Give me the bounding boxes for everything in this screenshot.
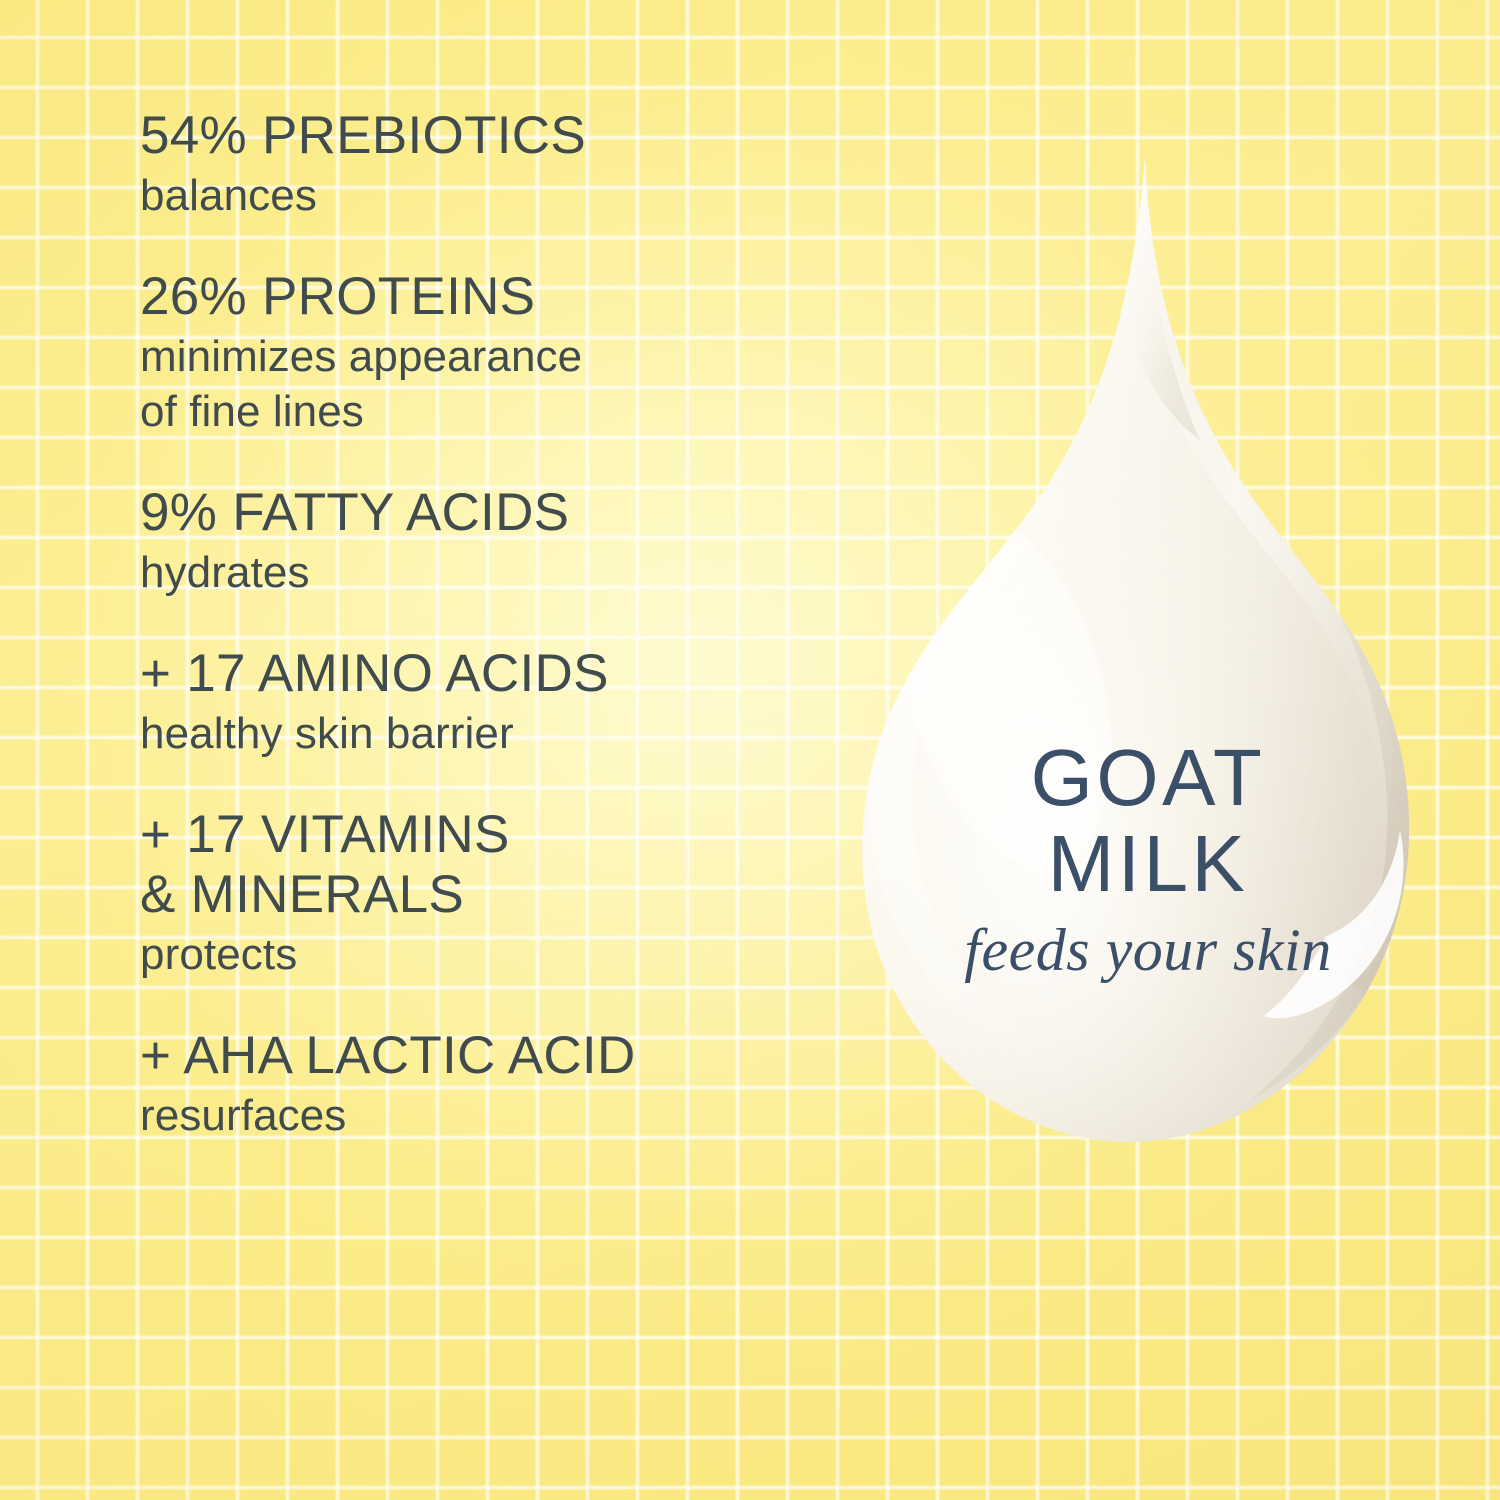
benefit-title: 9% FATTY ACIDS [140,483,840,543]
benefit-title: + 17 AMINO ACIDS [140,644,840,704]
benefit-item-proteins: 26% PROTEINS minimizes appearance of fin… [140,267,840,439]
benefit-description: balances [140,168,840,223]
benefit-description: minimizes appearance of fine lines [140,329,840,439]
benefit-title: + AHA LACTIC ACID [140,1026,840,1086]
benefit-title: 54% PREBIOTICS [140,106,840,166]
benefit-description: resurfaces [140,1088,840,1143]
benefits-list: 54% PREBIOTICS balances 26% PROTEINS min… [140,106,840,1143]
benefit-item-vitamins-minerals: + 17 VITAMINS & MINERALS protects [140,805,840,982]
benefit-item-aha-lactic-acid: + AHA LACTIC ACID resurfaces [140,1026,840,1143]
benefit-title: 26% PROTEINS [140,267,840,327]
benefit-description: protects [140,927,840,982]
benefit-item-fatty-acids: 9% FATTY ACIDS hydrates [140,483,840,600]
milk-droplet-icon [828,130,1468,1220]
benefit-title: + 17 VITAMINS & MINERALS [140,805,840,925]
product-benefits-infographic: 54% PREBIOTICS balances 26% PROTEINS min… [0,0,1500,1500]
benefit-description: hydrates [140,545,840,600]
benefit-description: healthy skin barrier [140,706,840,761]
benefit-item-amino-acids: + 17 AMINO ACIDS healthy skin barrier [140,644,840,761]
benefit-item-prebiotics: 54% PREBIOTICS balances [140,106,840,223]
